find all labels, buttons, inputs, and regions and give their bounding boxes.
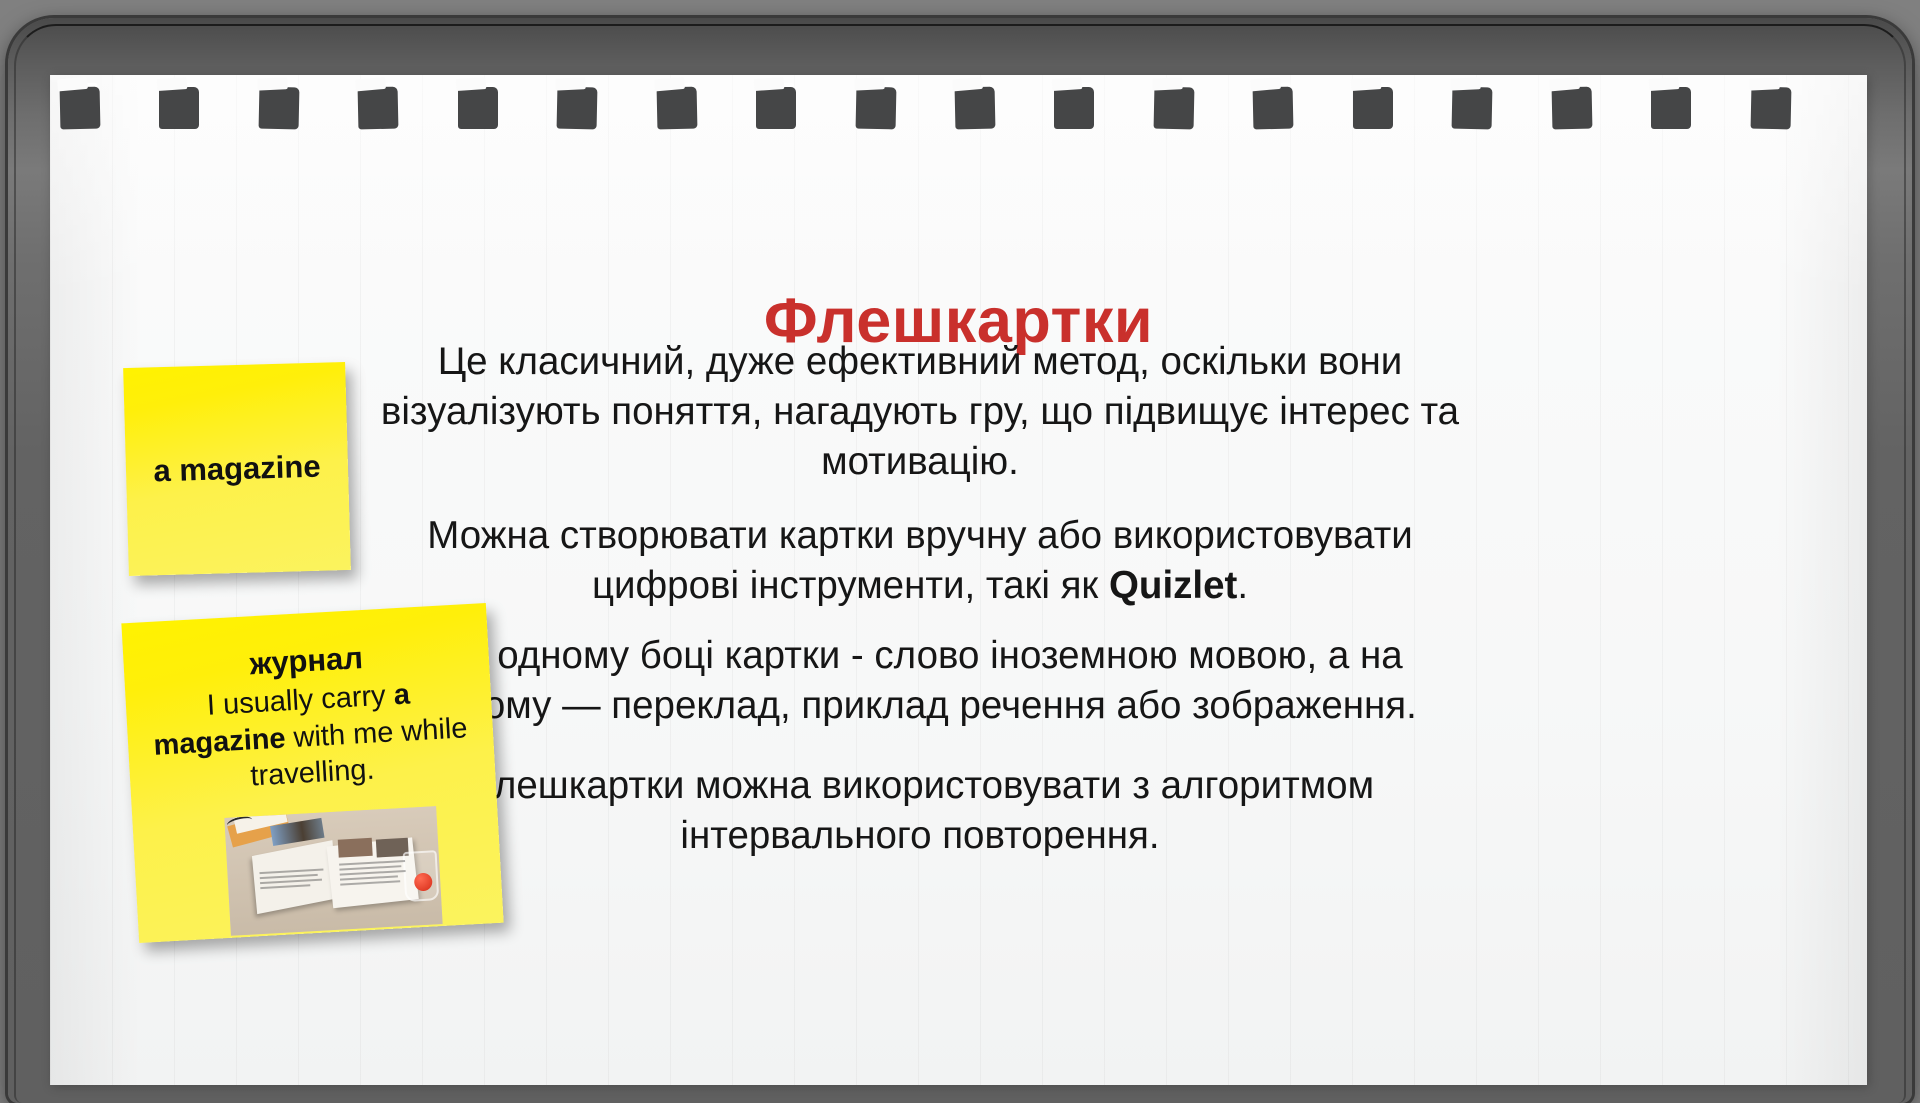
perforation-hole: [60, 87, 101, 130]
paragraph-3: На одному боці картки - слово іноземною …: [380, 631, 1460, 731]
open-magazine-photo: [224, 806, 442, 936]
sticky-note-translation-content: журнал I usually carry a magazine with m…: [123, 631, 496, 802]
perforation-hole: [1750, 87, 1791, 130]
perforation-hole: [1452, 87, 1493, 130]
perforation-hole: [756, 87, 796, 129]
plain-text: .: [1237, 564, 1248, 607]
perforation-hole: [855, 87, 896, 130]
perforation-hole: [1353, 87, 1393, 129]
paragraph-1: Це класичний, дуже ефективний метод, оск…: [380, 337, 1460, 487]
perforation-hole: [656, 87, 697, 130]
slide-canvas: Флешкартки Це класичний, дуже ефективний…: [0, 0, 1920, 1080]
emphasis-text: Quizlet: [1109, 564, 1237, 607]
sticky-note-translation[interactable]: журнал I usually carry a magazine with m…: [121, 603, 503, 943]
plain-text: Флешкартки можна використовувати з алгор…: [466, 764, 1374, 857]
plain-text: На одному боці картки - слово іноземною …: [423, 634, 1417, 727]
plain-text: Можна створювати картки вручну або викор…: [427, 514, 1413, 607]
sticky-note-term-label: a magazine: [153, 449, 321, 490]
perforation-hole: [458, 87, 498, 129]
plain-text: I usually carry: [206, 679, 394, 721]
perforation-hole: [557, 87, 598, 130]
notepad-paper: Флешкартки Це класичний, дуже ефективний…: [50, 75, 1867, 1085]
perforation-hole: [1651, 87, 1691, 129]
sticky-note-term[interactable]: a magazine: [123, 362, 351, 576]
perforation-hole: [258, 87, 299, 130]
paragraph-4: Флешкартки можна використовувати з алгор…: [380, 761, 1460, 861]
perforation-hole: [358, 87, 399, 130]
paragraph-2: Можна створювати картки вручну або викор…: [380, 511, 1460, 611]
sticky-note-example-sentence: I usually carry a magazine with me while…: [125, 672, 496, 802]
perforation-holes-row: [50, 75, 1867, 137]
photo-magazine-image-mid-a: [338, 838, 373, 858]
perforation-hole: [1054, 87, 1094, 129]
plain-text: Це класичний, дуже ефективний метод, оск…: [381, 340, 1459, 483]
perforation-hole: [955, 87, 996, 130]
perforation-hole: [159, 87, 199, 129]
body-text-block: Це класичний, дуже ефективний метод, оск…: [380, 337, 1460, 881]
perforation-hole: [1153, 87, 1194, 130]
perforation-hole: [1551, 87, 1592, 130]
perforation-hole: [1253, 87, 1294, 130]
